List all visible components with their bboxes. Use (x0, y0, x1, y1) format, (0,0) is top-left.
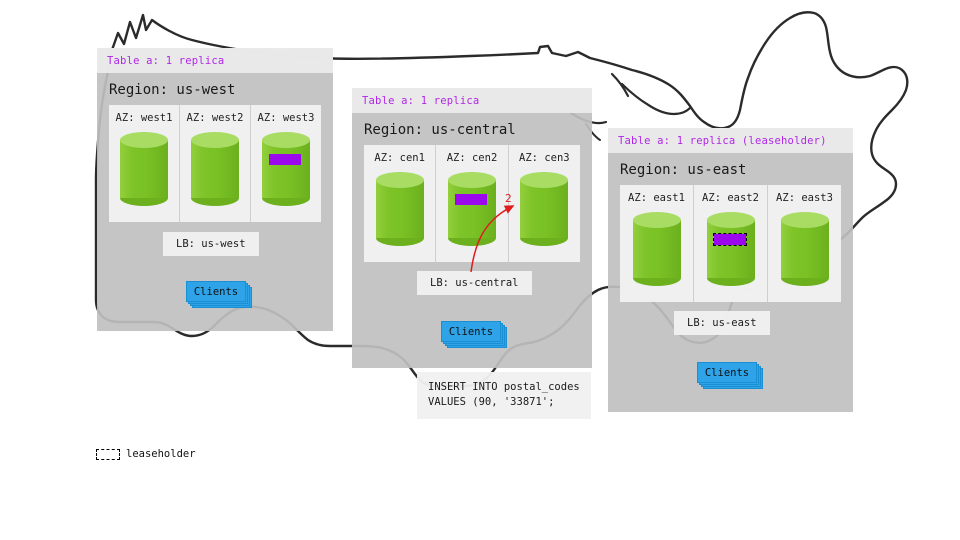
region-title-us-east: Region: us-east (608, 153, 853, 185)
cylinder-body (781, 220, 829, 278)
replica-label-us-east: Table a: 1 replica (leaseholder) (608, 128, 853, 153)
cylinder-body (120, 140, 168, 198)
az-label-cen2: AZ: cen2 (440, 152, 503, 164)
sql-statement-box: INSERT INTO postal_codes VALUES (90, '33… (417, 372, 591, 419)
cylinder-top (448, 172, 496, 188)
diagram-canvas: Table a: 1 replica Region: us-west AZ: w… (0, 0, 960, 540)
cylinder-top (376, 172, 424, 188)
node-cylinder-east1[interactable] (633, 212, 681, 286)
leaseholder-swatch-icon (96, 449, 120, 460)
az-cell-east3[interactable]: AZ: east3 (768, 185, 841, 302)
cylinder-top (633, 212, 681, 228)
az-row-us-central: AZ: cen1 AZ: cen2 (364, 145, 580, 262)
cylinder-top (262, 132, 310, 148)
az-label-west1: AZ: west1 (113, 112, 175, 124)
az-cell-west3[interactable]: AZ: west3 (251, 105, 321, 222)
az-label-west3: AZ: west3 (255, 112, 317, 124)
az-cell-cen2[interactable]: AZ: cen2 (436, 145, 508, 262)
legend: leaseholder (96, 448, 196, 460)
cylinder-top (520, 172, 568, 188)
az-cell-cen3[interactable]: AZ: cen3 (509, 145, 580, 262)
clients-stack-us-west[interactable]: Clients (186, 281, 250, 305)
cylinder-top (191, 132, 239, 148)
legend-label: leaseholder (126, 448, 196, 460)
load-balancer-us-east[interactable]: LB: us-east (674, 311, 770, 335)
az-label-cen1: AZ: cen1 (368, 152, 431, 164)
az-cell-east2[interactable]: AZ: east2 (694, 185, 768, 302)
az-label-east1: AZ: east1 (624, 192, 689, 204)
clients-stack-us-east[interactable]: Clients (697, 362, 761, 386)
node-cylinder-cen1[interactable] (376, 172, 424, 246)
arrow-step-label: 2 (505, 192, 512, 205)
az-row-us-east: AZ: east1 AZ: east2 (620, 185, 841, 302)
cylinder-body (191, 140, 239, 198)
cylinder-body (262, 140, 310, 198)
replica-label-us-west: Table a: 1 replica (97, 48, 333, 73)
node-cylinder-cen2[interactable] (448, 172, 496, 246)
clients-button-us-east[interactable]: Clients (697, 362, 757, 383)
az-label-east2: AZ: east2 (698, 192, 763, 204)
node-cylinder-east3[interactable] (781, 212, 829, 286)
az-cell-west1[interactable]: AZ: west1 (109, 105, 180, 222)
replica-marker-leaseholder-east2 (714, 234, 746, 245)
az-label-east3: AZ: east3 (772, 192, 837, 204)
az-cell-west2[interactable]: AZ: west2 (180, 105, 251, 222)
node-cylinder-west1[interactable] (120, 132, 168, 206)
region-title-us-central: Region: us-central (352, 113, 592, 145)
clients-button-us-west[interactable]: Clients (186, 281, 246, 302)
az-cell-east1[interactable]: AZ: east1 (620, 185, 694, 302)
az-cell-cen1[interactable]: AZ: cen1 (364, 145, 436, 262)
node-cylinder-west3[interactable] (262, 132, 310, 206)
replica-marker-cen2 (455, 194, 487, 205)
cylinder-body (448, 180, 496, 238)
cylinder-top (707, 212, 755, 228)
load-balancer-us-central[interactable]: LB: us-central (417, 271, 532, 295)
cylinder-body (520, 180, 568, 238)
cylinder-body (633, 220, 681, 278)
node-cylinder-east2[interactable] (707, 212, 755, 286)
az-label-cen3: AZ: cen3 (513, 152, 576, 164)
cylinder-top (781, 212, 829, 228)
cylinder-body (707, 220, 755, 278)
node-cylinder-cen3[interactable] (520, 172, 568, 246)
region-title-us-west: Region: us-west (97, 73, 333, 105)
az-label-west2: AZ: west2 (184, 112, 246, 124)
clients-stack-us-central[interactable]: Clients (441, 321, 505, 345)
replica-marker-west3 (269, 154, 301, 165)
replica-label-us-central: Table a: 1 replica (352, 88, 592, 113)
load-balancer-us-west[interactable]: LB: us-west (163, 232, 259, 256)
clients-button-us-central[interactable]: Clients (441, 321, 501, 342)
cylinder-top (120, 132, 168, 148)
node-cylinder-west2[interactable] (191, 132, 239, 206)
cylinder-body (376, 180, 424, 238)
az-row-us-west: AZ: west1 AZ: west2 (109, 105, 321, 222)
